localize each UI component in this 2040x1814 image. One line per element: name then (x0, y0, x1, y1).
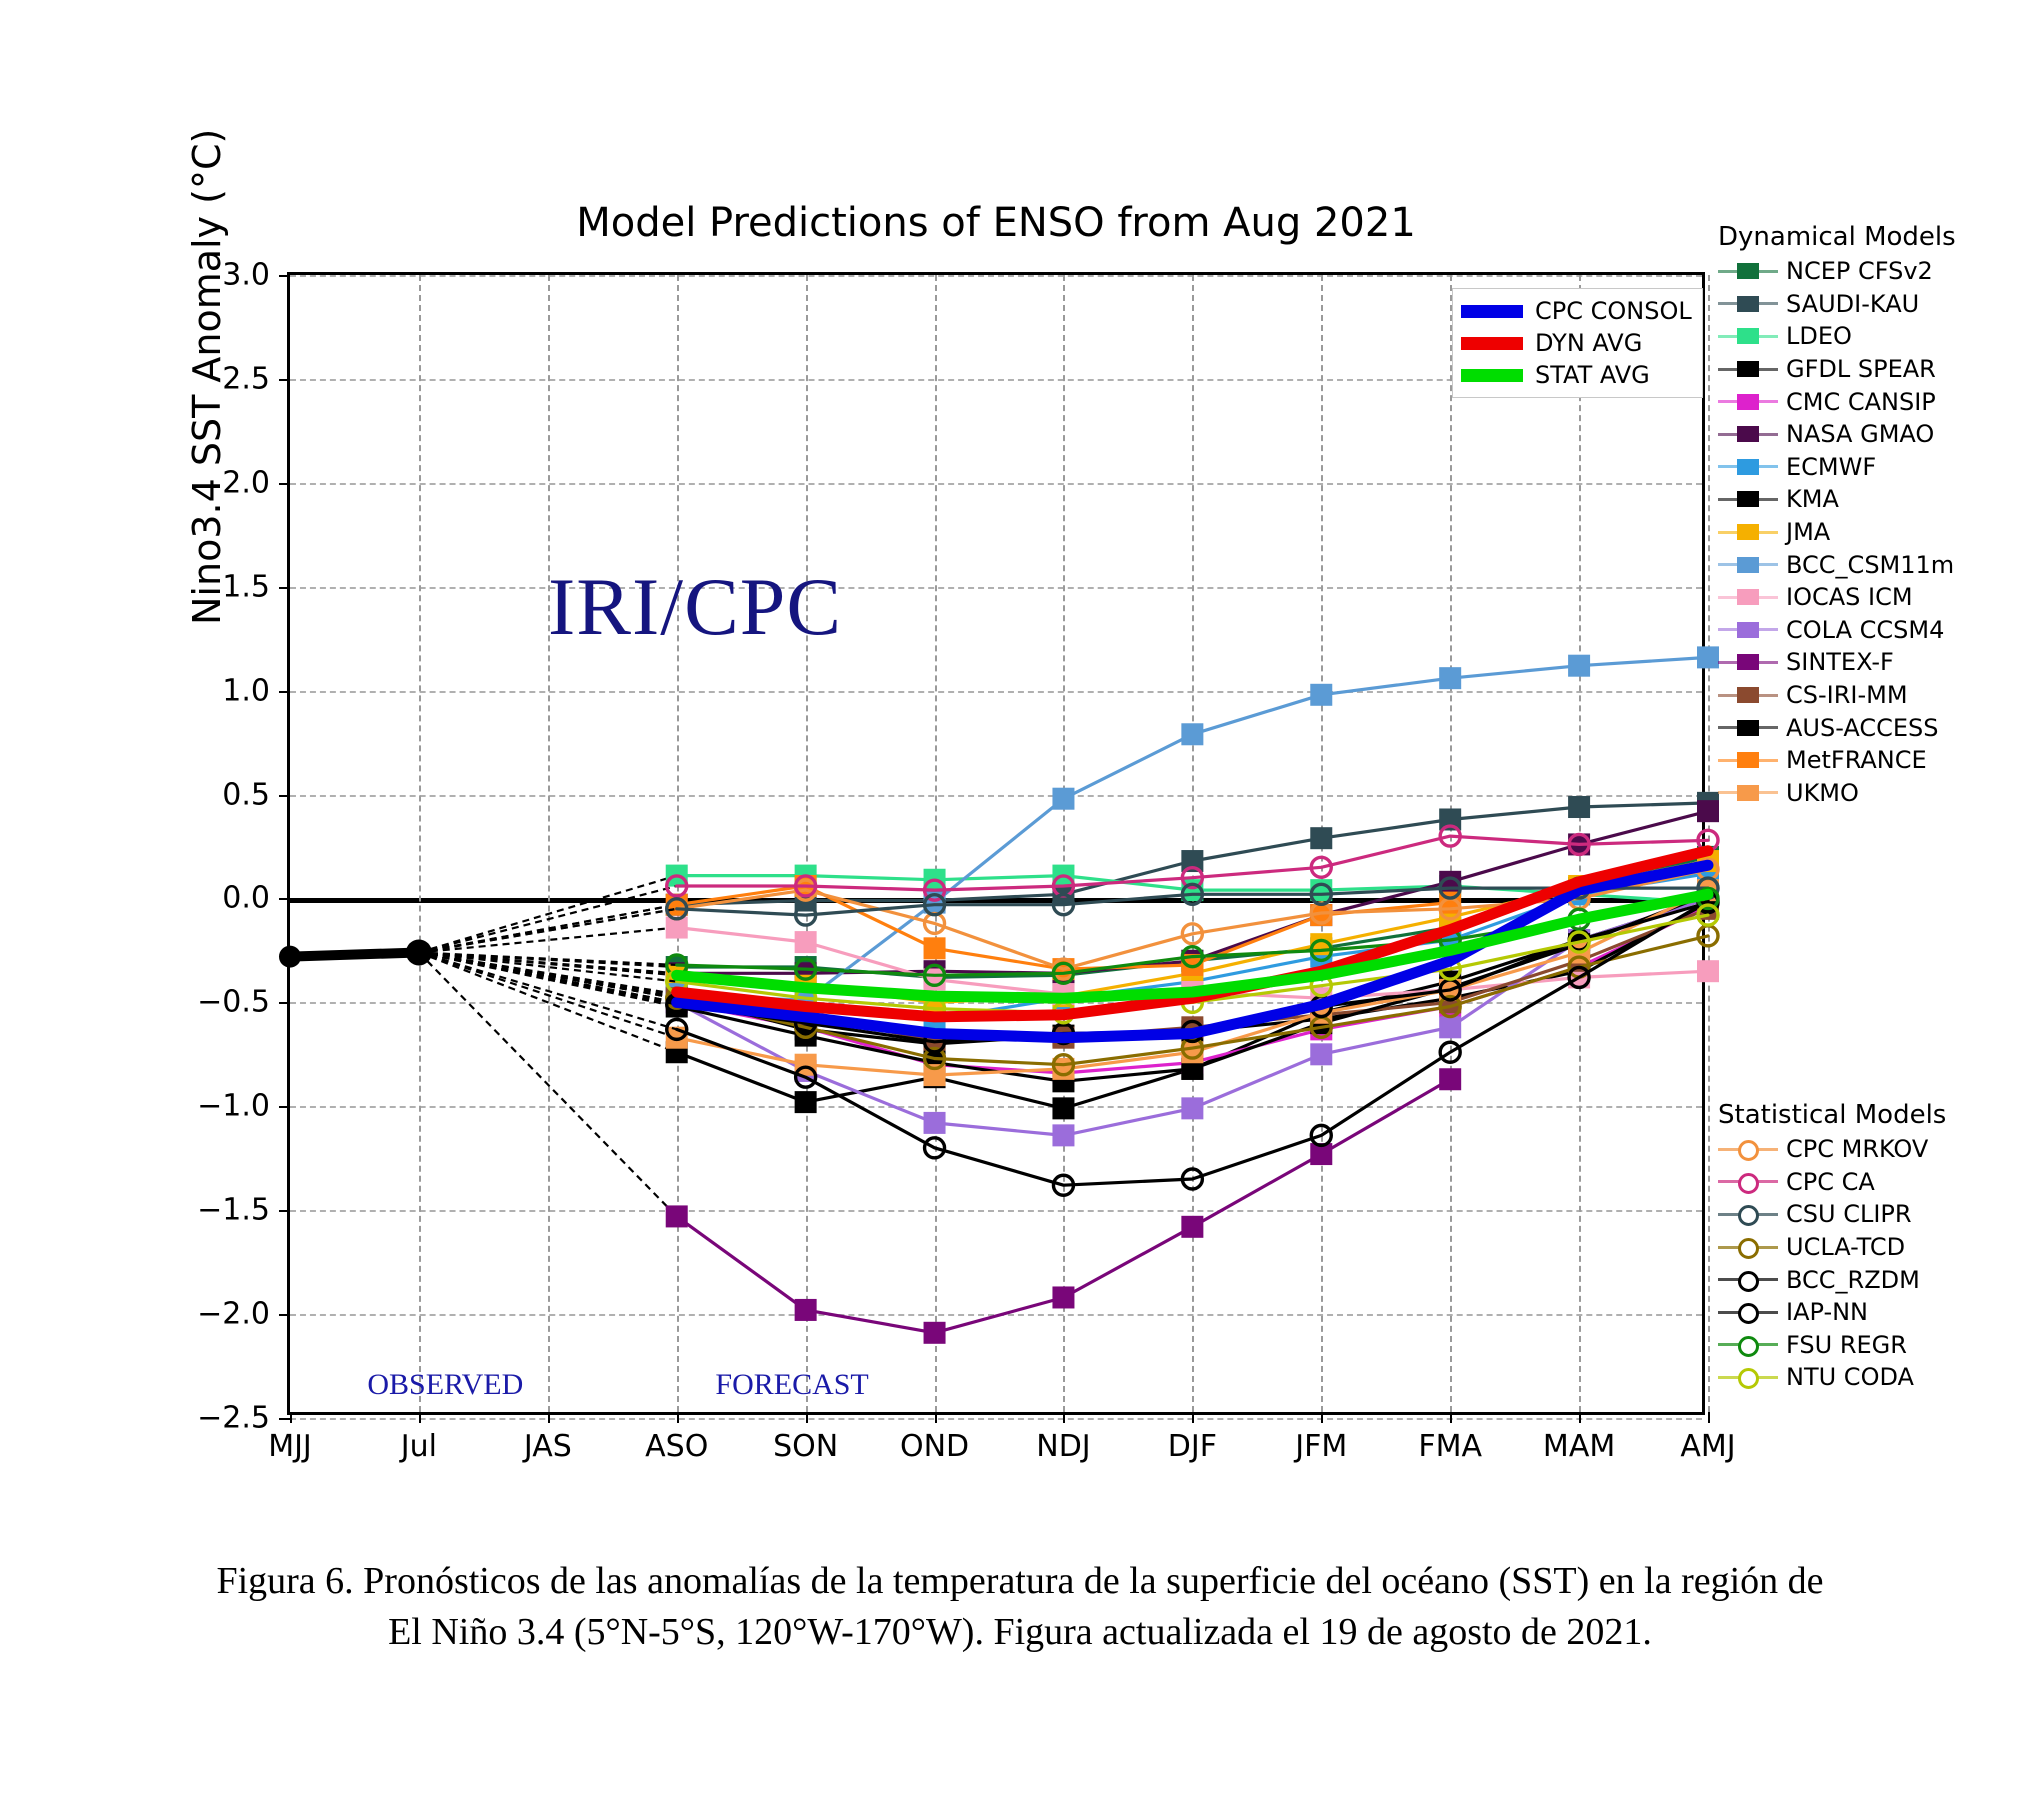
y-tick-mark (279, 795, 290, 797)
x-tick-mark (1708, 1412, 1710, 1423)
legend-square-marker (1737, 622, 1759, 638)
legend-label: STAT AVG (1535, 361, 1650, 389)
y-tick-label: 2.5 (222, 361, 270, 396)
y-tick-label: 1.0 (222, 673, 270, 708)
legend-square-marker (1737, 296, 1759, 312)
legend-key (1718, 289, 1778, 319)
x-tick-label: JAS (524, 1429, 572, 1464)
legend-swatch (1461, 337, 1523, 350)
legend-key (1718, 256, 1778, 286)
legend-item-bcc-rzdm[interactable]: BCC_RZDM (1718, 1263, 1946, 1296)
legend-label: BCC_RZDM (1786, 1266, 1920, 1294)
y-tick-label: −2.0 (197, 1297, 270, 1332)
legend-key (1718, 1199, 1778, 1229)
y-tick-label: 0.5 (222, 777, 270, 812)
y-tick-mark (279, 1210, 290, 1212)
x-tick-label: FMA (1418, 1429, 1482, 1464)
legend-item-cs-iri-mm[interactable]: CS-IRI-MM (1718, 679, 1956, 712)
legend-dynamical-header: Dynamical Models (1718, 222, 1956, 252)
legend-circle-marker (1738, 1271, 1759, 1292)
caption-line-1: Figura 6. Pronósticos de las anomalías d… (216, 1560, 1823, 1602)
legend-label: AUS-ACCESS (1786, 714, 1939, 742)
legend-item-aus-access[interactable]: AUS-ACCESS (1718, 711, 1956, 744)
legend-label: MetFRANCE (1786, 746, 1927, 774)
legend-item-jma[interactable]: JMA (1718, 516, 1956, 549)
legend-square-marker (1737, 426, 1759, 442)
legend-item-iocas-icm[interactable]: IOCAS ICM (1718, 581, 1956, 614)
legend-circle-marker (1738, 1368, 1759, 1389)
legend-key (1718, 745, 1778, 775)
legend-key (1718, 419, 1778, 449)
legend-key (1718, 713, 1778, 743)
legend-item-ukmo[interactable]: UKMO (1718, 777, 1956, 810)
legend-key (1718, 1265, 1778, 1295)
legend-item-dyn-avg[interactable]: DYN AVG (1461, 327, 1692, 359)
legend-key (1718, 550, 1778, 580)
legend-item-metfrance[interactable]: MetFRANCE (1718, 744, 1956, 777)
legend-item-fsu-regr[interactable]: FSU REGR (1718, 1329, 1946, 1362)
x-tick-label: SON (773, 1429, 838, 1464)
legend-label: UKMO (1786, 779, 1859, 807)
figure-page: Model Predictions of ENSO from Aug 2021 … (0, 0, 2040, 1814)
legend-item-csu-clipr[interactable]: CSU CLIPR (1718, 1198, 1946, 1231)
legend-square-marker (1737, 361, 1759, 377)
legend-statistical-header: Statistical Models (1718, 1100, 1946, 1130)
h-gridline (290, 1418, 1702, 1420)
legend-circle-marker (1738, 1173, 1759, 1194)
legend-key (1718, 452, 1778, 482)
legend-swatch (1461, 305, 1523, 318)
legend-item-iap-nn[interactable]: IAP-NN (1718, 1296, 1946, 1329)
enso-forecast-chart: Model Predictions of ENSO from Aug 2021 … (0, 0, 2040, 1500)
legend-square-marker (1737, 589, 1759, 605)
legend-item-cpc-consol[interactable]: CPC CONSOL (1461, 295, 1692, 327)
chart-title: Model Predictions of ENSO from Aug 2021 (287, 200, 1705, 246)
y-tick-label: −1.5 (197, 1193, 270, 1228)
legend-key (1718, 1167, 1778, 1197)
y-tick-label: −1.0 (197, 1089, 270, 1124)
legend-key (1718, 1362, 1778, 1392)
legend-label: CPC CONSOL (1535, 297, 1692, 325)
plot-area: Nino3.4 SST Anomaly (°C) 3.02.52.01.51.0… (287, 272, 1705, 1415)
legend-item-saudi-kau[interactable]: SAUDI-KAU (1718, 288, 1956, 321)
legend-key (1718, 321, 1778, 351)
legend-statistical-rows: CPC MRKOVCPC CACSU CLIPRUCLA-TCDBCC_RZDM… (1718, 1133, 1946, 1394)
legend-label: CMC CANSIP (1786, 388, 1936, 416)
y-tick-label: 0.0 (222, 881, 270, 916)
legend-circle-marker (1738, 1336, 1759, 1357)
series-observed (279, 939, 432, 967)
legend-square-marker (1737, 524, 1759, 540)
legend-item-ntu-coda[interactable]: NTU CODA (1718, 1361, 1946, 1394)
legend-square-marker (1737, 263, 1759, 279)
legend-square-marker (1737, 328, 1759, 344)
legend-item-sintex-f[interactable]: SINTEX-F (1718, 646, 1956, 679)
legend-square-marker (1737, 654, 1759, 670)
x-tick-label: ASO (645, 1429, 708, 1464)
phase-label: FORECAST (715, 1368, 868, 1402)
y-tick-label: −0.5 (197, 985, 270, 1020)
x-tick-label: NDJ (1036, 1429, 1090, 1464)
legend-dynamical-rows: NCEP CFSv2SAUDI-KAULDEOGFDL SPEARCMC CAN… (1718, 255, 1956, 809)
y-tick-mark (279, 379, 290, 381)
legend-square-marker (1737, 394, 1759, 410)
legend-key (1718, 484, 1778, 514)
legend-item-nasa-gmao[interactable]: NASA GMAO (1718, 418, 1956, 451)
x-tick-label: JFM (1295, 1429, 1347, 1464)
legend-square-marker (1737, 459, 1759, 475)
legend-dynamical-models[interactable]: Dynamical Models NCEP CFSv2SAUDI-KAULDEO… (1718, 222, 1956, 809)
legend-item-ecmwf[interactable]: ECMWF (1718, 451, 1956, 484)
y-tick-mark (279, 1418, 290, 1420)
legend-averages[interactable]: CPC CONSOLDYN AVGSTAT AVG (1452, 288, 1703, 398)
legend-item-gfdl-spear[interactable]: GFDL SPEAR (1718, 353, 1956, 386)
x-tick-label: OND (900, 1429, 969, 1464)
legend-key (1718, 778, 1778, 808)
legend-label: DYN AVG (1535, 329, 1642, 357)
legend-label: NCEP CFSv2 (1786, 257, 1933, 285)
legend-label: COLA CCSM4 (1786, 616, 1944, 644)
legend-key (1718, 1330, 1778, 1360)
legend-square-marker (1737, 687, 1759, 703)
legend-square-marker (1737, 491, 1759, 507)
legend-square-marker (1737, 557, 1759, 573)
legend-key (1718, 647, 1778, 677)
legend-label: BCC_CSM11m (1786, 551, 1954, 579)
legend-label: CPC MRKOV (1786, 1135, 1928, 1163)
legend-item-bcc-csm11m[interactable]: BCC_CSM11m (1718, 548, 1956, 581)
y-tick-mark (279, 898, 290, 900)
legend-label: IOCAS ICM (1786, 583, 1913, 611)
legend-key (1718, 1297, 1778, 1327)
legend-square-marker (1737, 785, 1759, 801)
legend-label: GFDL SPEAR (1786, 355, 1936, 383)
legend-key (1718, 582, 1778, 612)
legend-key (1718, 1134, 1778, 1164)
legend-label: CSU CLIPR (1786, 1200, 1912, 1228)
x-tick-label: Jul (401, 1429, 437, 1464)
legend-statistical-models[interactable]: Statistical Models CPC MRKOVCPC CACSU CL… (1718, 1100, 1946, 1394)
x-tick-label: MAM (1543, 1429, 1615, 1464)
legend-item-cmc-cansip[interactable]: CMC CANSIP (1718, 385, 1956, 418)
legend-label: IAP-NN (1786, 1298, 1868, 1326)
legend-key (1718, 387, 1778, 417)
legend-circle-marker (1738, 1303, 1759, 1324)
legend-circle-marker (1738, 1238, 1759, 1259)
legend-label: KMA (1786, 485, 1839, 513)
legend-label: LDEO (1786, 322, 1852, 350)
legend-item-ldeo[interactable]: LDEO (1718, 320, 1956, 353)
legend-item-ucla-tcd[interactable]: UCLA-TCD (1718, 1231, 1946, 1264)
y-tick-mark (279, 483, 290, 485)
legend-key (1718, 517, 1778, 547)
legend-label: ECMWF (1786, 453, 1876, 481)
legend-item-cola-ccsm4[interactable]: COLA CCSM4 (1718, 614, 1956, 647)
y-tick-mark (279, 1314, 290, 1316)
legend-label: NASA GMAO (1786, 420, 1934, 448)
y-tick-mark (279, 1002, 290, 1004)
y-tick-label: 2.0 (222, 465, 270, 500)
x-tick-label: DJF (1168, 1429, 1217, 1464)
y-tick-label: −2.5 (197, 1401, 270, 1436)
legend-item-cpc-ca[interactable]: CPC CA (1718, 1166, 1946, 1199)
legend-key (1718, 354, 1778, 384)
legend-key (1718, 680, 1778, 710)
y-tick-mark (279, 275, 290, 277)
legend-key (1718, 615, 1778, 645)
series-lines (290, 275, 1708, 1418)
legend-square-marker (1737, 752, 1759, 768)
legend-swatch (1461, 369, 1523, 382)
legend-label: NTU CODA (1786, 1363, 1914, 1391)
legend-item-ncep-cfsv2[interactable]: NCEP CFSv2 (1718, 255, 1956, 288)
legend-item-cpc-mrkov[interactable]: CPC MRKOV (1718, 1133, 1946, 1166)
x-tick-label: MJJ (268, 1429, 312, 1464)
legend-label: FSU REGR (1786, 1331, 1907, 1359)
legend-circle-marker (1738, 1140, 1759, 1161)
legend-circle-marker (1738, 1205, 1759, 1226)
phase-label: OBSERVED (367, 1368, 523, 1402)
caption-line-2: El Niño 3.4 (5°N-5°S, 120°W-170°W). Figu… (0, 1607, 2040, 1658)
legend-label: CPC CA (1786, 1168, 1875, 1196)
legend-label: SINTEX-F (1786, 648, 1894, 676)
legend-item-stat-avg[interactable]: STAT AVG (1461, 359, 1692, 391)
legend-label: SAUDI-KAU (1786, 290, 1919, 318)
y-tick-mark (279, 1106, 290, 1108)
figure-caption: Figura 6. Pronósticos de las anomalías d… (0, 1556, 2040, 1659)
legend-key (1718, 1232, 1778, 1262)
legend-label: JMA (1786, 518, 1830, 546)
v-gridline (1708, 275, 1710, 1412)
x-tick-label: AMJ (1680, 1429, 1735, 1464)
y-tick-label: 1.5 (222, 569, 270, 604)
legend-label: CS-IRI-MM (1786, 681, 1908, 709)
legend-square-marker (1737, 720, 1759, 736)
y-tick-label: 3.0 (222, 258, 270, 293)
legend-item-kma[interactable]: KMA (1718, 483, 1956, 516)
y-tick-mark (279, 587, 290, 589)
y-tick-mark (279, 691, 290, 693)
legend-label: UCLA-TCD (1786, 1233, 1905, 1261)
